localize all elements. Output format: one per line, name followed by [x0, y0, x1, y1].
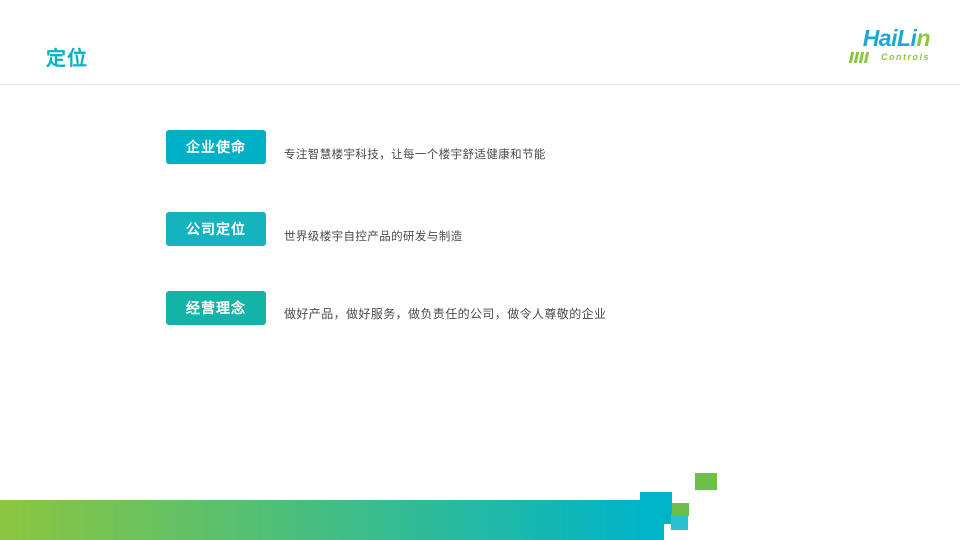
- list-item: 经营理念 做好产品，做好服务，做负责任的公司，做令人尊敬的企业: [166, 291, 266, 325]
- decoration-square-green-lower: [672, 503, 689, 516]
- logo-text-li: Li: [897, 25, 916, 51]
- page-title: 定位: [46, 42, 88, 71]
- row-text-positioning: 世界级楼宇自控产品的研发与制造: [284, 228, 463, 244]
- logo-text-hai: Hai: [863, 25, 897, 51]
- row-text-philosophy: 做好产品，做好服务，做负责任的公司，做令人尊敬的企业: [284, 305, 606, 322]
- slide-canvas: 定位 HaiLin Controls 企业使命 专注智慧楼宇科技，让每一个楼宇舒…: [0, 0, 960, 540]
- decoration-square-teal-lower: [640, 516, 664, 540]
- logo-subtitle: Controls: [881, 52, 930, 62]
- logo-bars-icon: [850, 52, 868, 63]
- row-tag-positioning: 公司定位: [166, 212, 266, 246]
- row-tag-philosophy: 经营理念: [166, 291, 266, 325]
- logo-text-n: n: [916, 25, 930, 51]
- company-logo: HaiLin Controls: [820, 26, 930, 70]
- list-item: 公司定位 世界级楼宇自控产品的研发与制造: [166, 212, 266, 246]
- row-text-mission: 专注智慧楼宇科技，让每一个楼宇舒适健康和节能: [284, 146, 546, 162]
- row-tag-mission: 企业使命: [166, 130, 266, 164]
- list-item: 企业使命 专注智慧楼宇科技，让每一个楼宇舒适健康和节能: [166, 130, 266, 164]
- logo-wordmark: HaiLin: [863, 26, 930, 50]
- bottom-gradient-bar: [0, 500, 640, 540]
- title-divider: [0, 84, 960, 85]
- decoration-square-green-upper: [695, 473, 717, 490]
